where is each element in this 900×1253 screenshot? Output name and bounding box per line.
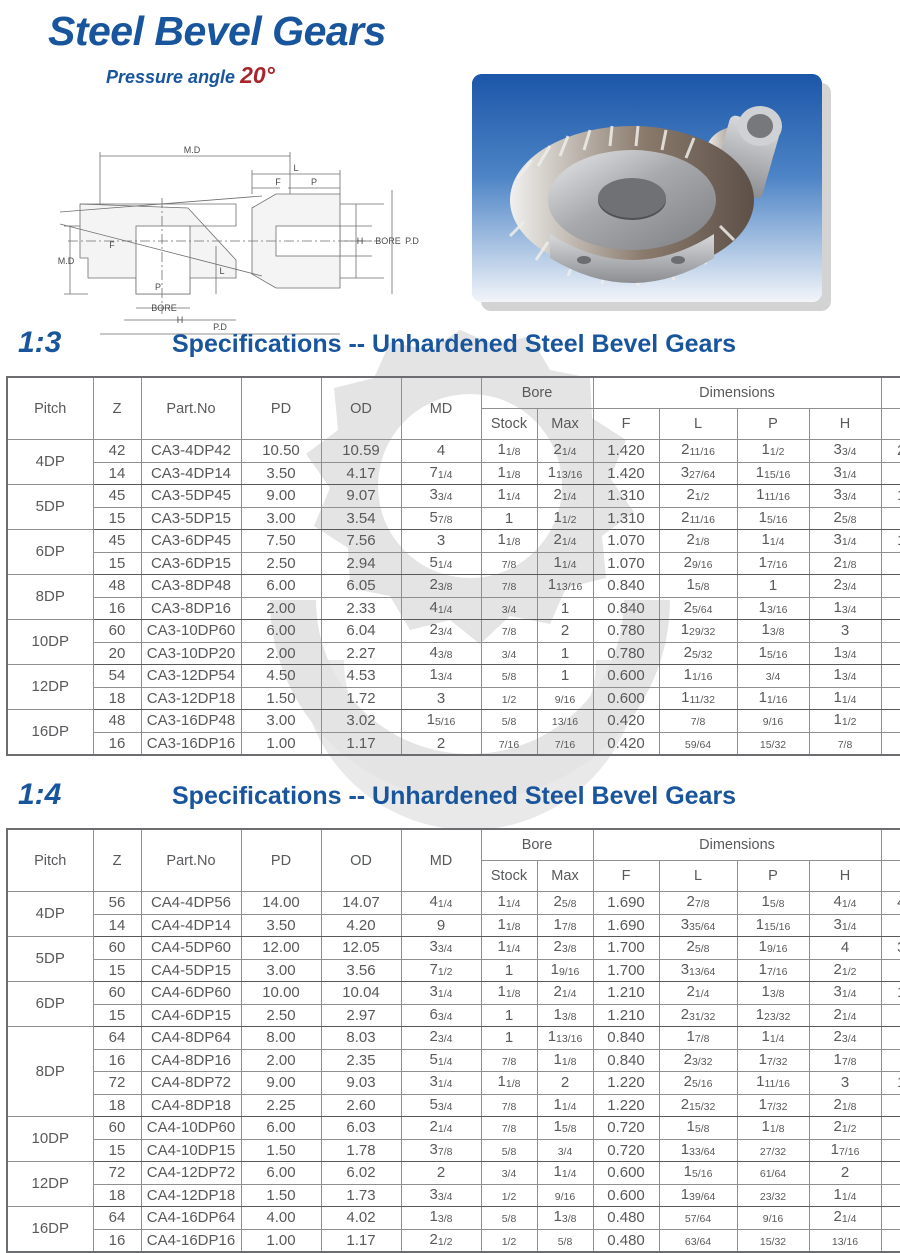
- cell-weight-lbs: 0.6: [881, 1139, 900, 1162]
- cell-part-no: CA4-6DP15: [141, 1004, 241, 1027]
- cell-od: 3.02: [321, 710, 401, 733]
- cell-bore-max: 15/8: [537, 1117, 593, 1140]
- cell-dim-p: 11/2: [737, 440, 809, 463]
- cell-z: 16: [93, 732, 141, 755]
- cell-weight-lbs: 1.2: [881, 597, 900, 620]
- cell-z: 72: [93, 1072, 141, 1095]
- cell-md: 63/4: [401, 1004, 481, 1027]
- cell-bore-max: 9/16: [537, 1184, 593, 1207]
- cell-dim-h: 21/4: [809, 1004, 881, 1027]
- cell-pd: 2.00: [241, 1049, 321, 1072]
- drawing-label-h-right: H: [357, 236, 364, 246]
- cell-md: 51/4: [401, 1049, 481, 1072]
- cell-dim-f: 0.600: [593, 1184, 659, 1207]
- cell-dim-f: 1.220: [593, 1072, 659, 1095]
- drawing-label-md: M.D: [184, 145, 201, 155]
- cell-part-no: CA3-10DP20: [141, 642, 241, 665]
- cell-dim-l: 63/64: [659, 1229, 737, 1252]
- col-group-bore: Bore: [481, 829, 593, 861]
- col-stock: Stock: [481, 409, 537, 440]
- cell-weight-lbs: 9.7: [881, 1027, 900, 1050]
- cell-dim-h: 17/16: [809, 1139, 881, 1162]
- table-row: 10DP60CA4-10DP606.006.0321/47/815/80.720…: [7, 1117, 900, 1140]
- cell-dim-p: 115/16: [737, 462, 809, 485]
- cell-dim-l: 57/64: [659, 1207, 737, 1230]
- subtitle-text: Pressure angle: [106, 67, 235, 87]
- col-max: Max: [537, 409, 593, 440]
- cell-z: 15: [93, 1004, 141, 1027]
- section-header-1: 1:3 Specifications -- Unhardened Steel B…: [0, 330, 900, 370]
- cell-dim-f: 0.420: [593, 710, 659, 733]
- cell-od: 3.54: [321, 507, 401, 530]
- table-header-1: Pitch Z Part.No PD OD MD Bore Dimensions…: [7, 377, 900, 440]
- cell-bore-stock: 7/8: [481, 1117, 537, 1140]
- cell-dim-l: 25/32: [659, 642, 737, 665]
- cell-od: 10.04: [321, 982, 401, 1005]
- page-header: Steel Bevel Gears Pressure angle 20°: [0, 0, 900, 330]
- table-row: 72CA4-8DP729.009.0331/411/821.22025/1611…: [7, 1072, 900, 1095]
- table-row: 10DP60CA3-10DP606.006.0423/47/820.780129…: [7, 620, 900, 643]
- cell-bore-stock: 1: [481, 1027, 537, 1050]
- cell-weight-lbs: 5.3: [881, 575, 900, 598]
- cell-dim-l: 211/16: [659, 440, 737, 463]
- cell-part-no: CA3-4DP42: [141, 440, 241, 463]
- cell-bore-max: 13/16: [537, 710, 593, 733]
- cell-dim-h: 21/2: [809, 959, 881, 982]
- col-lbs: Lbs: [881, 861, 900, 892]
- cell-pd: 9.00: [241, 1072, 321, 1095]
- cell-dim-l: 139/64: [659, 1184, 737, 1207]
- cell-part-no: CA3-16DP16: [141, 732, 241, 755]
- cell-dim-l: 59/64: [659, 732, 737, 755]
- cell-dim-l: 25/64: [659, 597, 737, 620]
- cell-weight-lbs: 3.3: [881, 1004, 900, 1027]
- cell-bore-stock: 11/4: [481, 485, 537, 508]
- cell-part-no: CA4-10DP15: [141, 1139, 241, 1162]
- cell-bore-stock: 7/16: [481, 732, 537, 755]
- cell-dim-f: 1.220: [593, 1094, 659, 1117]
- cell-pd: 8.00: [241, 1027, 321, 1050]
- cell-dim-p: 123/32: [737, 1004, 809, 1027]
- cell-bore-stock: 3/4: [481, 1162, 537, 1185]
- cell-part-no: CA3-6DP45: [141, 530, 241, 553]
- cell-part-no: CA3-10DP60: [141, 620, 241, 643]
- cell-bore-max: 25/8: [537, 892, 593, 915]
- cell-dim-f: 0.480: [593, 1229, 659, 1252]
- drawing-label-p-left: P: [155, 282, 161, 292]
- cell-od: 2.27: [321, 642, 401, 665]
- cell-pd: 1.00: [241, 1229, 321, 1252]
- cell-pitch: 10DP: [7, 620, 93, 665]
- cell-pd: 4.50: [241, 665, 321, 688]
- cell-md: 71/4: [401, 462, 481, 485]
- table-row: 16DP64CA4-16DP644.004.0213/85/813/80.480…: [7, 1207, 900, 1230]
- cell-bore-max: 11/4: [537, 552, 593, 575]
- cell-bore-max: 11/4: [537, 1094, 593, 1117]
- cell-od: 2.33: [321, 597, 401, 620]
- cell-dim-f: 1.210: [593, 982, 659, 1005]
- section-title-1: Specifications -- Unhardened Steel Bevel…: [172, 330, 736, 359]
- cell-dim-l: 29/16: [659, 552, 737, 575]
- table-row: 5DP60CA4-5DP6012.0012.0533/411/423/81.70…: [7, 937, 900, 960]
- cell-bore-max: 17/8: [537, 914, 593, 937]
- cell-dim-h: 21/4: [809, 1207, 881, 1230]
- cell-weight-lbs: 48.7: [881, 892, 900, 915]
- cell-z: 16: [93, 1229, 141, 1252]
- cell-dim-p: 15/8: [737, 892, 809, 915]
- table-row: 15CA4-10DP151.501.7837/85/83/40.720133/6…: [7, 1139, 900, 1162]
- table-row: 12DP72CA4-12DP726.006.0223/411/40.60015/…: [7, 1162, 900, 1185]
- table-row: 5DP45CA3-5DP459.009.0733/411/421/41.3102…: [7, 485, 900, 508]
- cell-bore-max: 19/16: [537, 959, 593, 982]
- cell-md: 43/8: [401, 642, 481, 665]
- cell-md: 37/8: [401, 1139, 481, 1162]
- cell-dim-f: 0.780: [593, 620, 659, 643]
- cell-dim-p: 27/32: [737, 1139, 809, 1162]
- cell-dim-h: 31/4: [809, 982, 881, 1005]
- drawing-label-md-left: M.D: [58, 256, 75, 266]
- cell-dim-f: 0.600: [593, 665, 659, 688]
- cell-dim-p: 9/16: [737, 710, 809, 733]
- cell-md: 3: [401, 530, 481, 553]
- cell-pd: 3.00: [241, 710, 321, 733]
- cell-dim-f: 0.840: [593, 1027, 659, 1050]
- cell-pd: 7.50: [241, 530, 321, 553]
- cell-dim-f: 1.310: [593, 507, 659, 530]
- cell-z: 54: [93, 665, 141, 688]
- cell-bore-stock: 5/8: [481, 710, 537, 733]
- cell-dim-h: 23/4: [809, 575, 881, 598]
- drawing-label-bore-left: BORE: [151, 303, 177, 313]
- cell-dim-l: 215/32: [659, 1094, 737, 1117]
- cell-dim-l: 25/16: [659, 1072, 737, 1095]
- cell-part-no: CA3-12DP54: [141, 665, 241, 688]
- cell-dim-h: 13/4: [809, 597, 881, 620]
- cell-bore-stock: 11/8: [481, 440, 537, 463]
- cell-dim-p: 61/64: [737, 1162, 809, 1185]
- cell-bore-max: 21/4: [537, 530, 593, 553]
- cell-od: 1.73: [321, 1184, 401, 1207]
- cell-bore-stock: 11/8: [481, 1072, 537, 1095]
- page-subtitle: Pressure angle 20°: [106, 62, 275, 89]
- cell-dim-f: 0.720: [593, 1117, 659, 1140]
- table-row: 15CA3-5DP153.003.5457/8111/21.310211/161…: [7, 507, 900, 530]
- cell-part-no: CA4-4DP56: [141, 892, 241, 915]
- cell-part-no: CA4-5DP60: [141, 937, 241, 960]
- cell-md: 57/8: [401, 507, 481, 530]
- cell-dim-h: 33/4: [809, 485, 881, 508]
- cell-dim-h: 21/2: [809, 1117, 881, 1140]
- col-part: Part.No: [141, 829, 241, 892]
- drawing-label-l-left: L: [219, 266, 224, 276]
- spec-table-1: Pitch Z Part.No PD OD MD Bore Dimensions…: [6, 376, 900, 756]
- cell-pd: 3.00: [241, 507, 321, 530]
- cell-dim-p: 15/16: [737, 642, 809, 665]
- table-row: 18CA3-12DP181.501.7231/29/160.600111/321…: [7, 687, 900, 710]
- cell-bore-max: 5/8: [537, 1229, 593, 1252]
- cell-od: 3.56: [321, 959, 401, 982]
- ratio-label-1: 1:3: [18, 326, 61, 360]
- cell-z: 64: [93, 1027, 141, 1050]
- table-row: 16CA4-16DP161.001.1721/21/25/80.48063/64…: [7, 1229, 900, 1252]
- cell-dim-l: 11/16: [659, 665, 737, 688]
- cell-dim-h: 17/8: [809, 1049, 881, 1072]
- cell-bore-max: 1: [537, 642, 593, 665]
- cell-bore-stock: 11/8: [481, 914, 537, 937]
- table-row: 16CA4-8DP162.002.3551/47/811/80.84023/32…: [7, 1049, 900, 1072]
- cell-dim-f: 0.420: [593, 732, 659, 755]
- cell-dim-h: 11/4: [809, 687, 881, 710]
- cell-md: 15/16: [401, 710, 481, 733]
- cell-z: 15: [93, 1139, 141, 1162]
- cell-z: 72: [93, 1162, 141, 1185]
- cell-dim-l: 15/8: [659, 1117, 737, 1140]
- cell-bore-stock: 7/8: [481, 1094, 537, 1117]
- cell-od: 4.17: [321, 462, 401, 485]
- cell-dim-f: 0.840: [593, 575, 659, 598]
- cell-dim-h: 3: [809, 620, 881, 643]
- cell-dim-l: 111/32: [659, 687, 737, 710]
- cell-od: 2.94: [321, 552, 401, 575]
- cell-z: 18: [93, 687, 141, 710]
- cell-z: 16: [93, 597, 141, 620]
- cell-z: 15: [93, 552, 141, 575]
- col-od: OD: [321, 377, 401, 440]
- cell-pitch: 12DP: [7, 1162, 93, 1207]
- cell-dim-h: 4: [809, 937, 881, 960]
- pressure-angle-value: 20°: [240, 62, 275, 88]
- col-group-dimensions: Dimensions: [593, 377, 881, 409]
- cell-part-no: CA4-16DP16: [141, 1229, 241, 1252]
- cell-md: 33/4: [401, 1184, 481, 1207]
- cell-weight-lbs: 2.3: [881, 552, 900, 575]
- cell-dim-p: 15/32: [737, 732, 809, 755]
- cell-dim-l: 313/64: [659, 959, 737, 982]
- cell-md: 21/4: [401, 1117, 481, 1140]
- cell-bore-max: 13/8: [537, 1004, 593, 1027]
- table-row: 15CA4-6DP152.502.9763/4113/81.210231/321…: [7, 1004, 900, 1027]
- cell-dim-p: 115/16: [737, 914, 809, 937]
- ratio-label-2: 1:4: [18, 778, 61, 812]
- cell-weight-lbs: 0.4: [881, 1184, 900, 1207]
- cell-z: 15: [93, 959, 141, 982]
- cell-md: 41/4: [401, 892, 481, 915]
- cell-dim-l: 7/8: [659, 710, 737, 733]
- cell-weight-lbs: 1.6: [881, 1207, 900, 1230]
- cell-md: 13/8: [401, 1207, 481, 1230]
- cell-od: 6.03: [321, 1117, 401, 1140]
- cell-od: 9.07: [321, 485, 401, 508]
- cell-dim-p: 13/8: [737, 620, 809, 643]
- cell-pd: 3.50: [241, 462, 321, 485]
- table-row: 6DP60CA4-6DP6010.0010.0431/411/821/41.21…: [7, 982, 900, 1005]
- cell-bore-max: 21/4: [537, 440, 593, 463]
- cell-part-no: CA4-5DP15: [141, 959, 241, 982]
- cell-pd: 2.50: [241, 1004, 321, 1027]
- cell-od: 4.02: [321, 1207, 401, 1230]
- cell-part-no: CA4-10DP60: [141, 1117, 241, 1140]
- cell-md: 4: [401, 440, 481, 463]
- cell-weight-lbs: 3.1: [881, 1162, 900, 1185]
- table-row: 12DP54CA3-12DP544.504.5313/45/810.60011/…: [7, 665, 900, 688]
- cell-dim-f: 1.070: [593, 530, 659, 553]
- cell-pd: 6.00: [241, 1117, 321, 1140]
- cell-od: 1.17: [321, 1229, 401, 1252]
- table-header-2: Pitch Z Part.No PD OD MD Bore Dimensions…: [7, 829, 900, 892]
- cell-dim-l: 231/32: [659, 1004, 737, 1027]
- cell-dim-f: 0.480: [593, 1207, 659, 1230]
- cell-weight-lbs: 10.6: [881, 530, 900, 553]
- cell-weight-lbs: 17.6: [881, 982, 900, 1005]
- cell-z: 60: [93, 937, 141, 960]
- cell-z: 16: [93, 1049, 141, 1072]
- cell-weight-lbs: 7.6: [881, 914, 900, 937]
- drawing-label-p: P: [311, 177, 317, 187]
- cell-md: 31/4: [401, 982, 481, 1005]
- cell-z: 14: [93, 462, 141, 485]
- table-row: 16CA3-16DP161.001.1727/167/160.42059/641…: [7, 732, 900, 755]
- cell-dim-l: 335/64: [659, 914, 737, 937]
- table-row: 18CA4-8DP182.252.6053/47/811/41.220215/3…: [7, 1094, 900, 1117]
- col-part: Part.No: [141, 377, 241, 440]
- cell-pitch: 16DP: [7, 710, 93, 756]
- cell-dim-h: 7/8: [809, 732, 881, 755]
- col-group-bore: Bore: [481, 377, 593, 409]
- drawing-label-l: L: [293, 163, 298, 173]
- cell-dim-f: 1.700: [593, 959, 659, 982]
- col-pd: PD: [241, 377, 321, 440]
- cell-bore-max: 113/16: [537, 462, 593, 485]
- cell-pd: 10.50: [241, 440, 321, 463]
- col-pitch: Pitch: [7, 377, 93, 440]
- table-row: 16DP48CA3-16DP483.003.0215/165/813/160.4…: [7, 710, 900, 733]
- col-group-wt: wt: [881, 829, 900, 861]
- col-l: L: [659, 409, 737, 440]
- cell-bore-max: 1: [537, 597, 593, 620]
- cell-pitch: 8DP: [7, 1027, 93, 1117]
- cell-od: 6.05: [321, 575, 401, 598]
- cell-z: 48: [93, 575, 141, 598]
- cell-pd: 1.00: [241, 732, 321, 755]
- cell-bore-max: 23/8: [537, 937, 593, 960]
- col-f: F: [593, 861, 659, 892]
- cell-od: 12.05: [321, 937, 401, 960]
- cell-weight-lbs: 1.7: [881, 665, 900, 688]
- cell-bore-max: 3/4: [537, 1139, 593, 1162]
- cell-bore-stock: 7/8: [481, 1049, 537, 1072]
- cell-dim-p: 111/16: [737, 485, 809, 508]
- cell-dim-p: 23/32: [737, 1184, 809, 1207]
- cell-z: 20: [93, 642, 141, 665]
- cell-od: 1.17: [321, 732, 401, 755]
- cell-md: 51/4: [401, 552, 481, 575]
- cell-bore-stock: 3/4: [481, 597, 537, 620]
- cell-part-no: CA3-12DP18: [141, 687, 241, 710]
- cell-dim-h: 23/4: [809, 1027, 881, 1050]
- cell-dim-h: 31/4: [809, 462, 881, 485]
- cell-z: 56: [93, 892, 141, 915]
- drawing-label-f-left: F: [109, 240, 115, 250]
- cell-pd: 2.00: [241, 642, 321, 665]
- cell-pitch: 6DP: [7, 530, 93, 575]
- cell-dim-f: 1.210: [593, 1004, 659, 1027]
- cell-md: 23/4: [401, 620, 481, 643]
- cell-od: 10.59: [321, 440, 401, 463]
- cell-bore-stock: 1/2: [481, 1184, 537, 1207]
- cell-dim-h: 2: [809, 1162, 881, 1185]
- table-row: 20CA3-10DP202.002.2743/83/410.78025/3215…: [7, 642, 900, 665]
- cell-bore-stock: 1: [481, 959, 537, 982]
- col-pitch: Pitch: [7, 829, 93, 892]
- cell-dim-l: 15/16: [659, 1162, 737, 1185]
- cell-weight-lbs: 0.8: [881, 710, 900, 733]
- col-lbs: Lbs: [881, 409, 900, 440]
- cell-part-no: CA3-5DP15: [141, 507, 241, 530]
- cell-dim-l: 211/16: [659, 507, 737, 530]
- section-header-2: 1:4 Specifications -- Unhardened Steel B…: [0, 782, 900, 822]
- cell-weight-lbs: 0.1: [881, 1229, 900, 1252]
- cell-weight-lbs: 31.2: [881, 937, 900, 960]
- cell-pitch: 10DP: [7, 1117, 93, 1162]
- cell-dim-p: 15/32: [737, 1229, 809, 1252]
- col-p: P: [737, 861, 809, 892]
- cell-od: 14.07: [321, 892, 401, 915]
- cell-bore-stock: 3/4: [481, 642, 537, 665]
- cell-pitch: 12DP: [7, 665, 93, 710]
- cell-md: 21/2: [401, 1229, 481, 1252]
- cell-dim-h: 25/8: [809, 507, 881, 530]
- cell-dim-p: 13/16: [737, 597, 809, 620]
- cell-md: 2: [401, 732, 481, 755]
- cell-pd: 12.00: [241, 937, 321, 960]
- cell-od: 4.53: [321, 665, 401, 688]
- cell-dim-h: 33/4: [809, 440, 881, 463]
- table-body-1: 4DP42CA3-4DP4210.5010.59411/821/41.42021…: [7, 440, 900, 756]
- cell-md: 33/4: [401, 937, 481, 960]
- cell-dim-f: 0.780: [593, 642, 659, 665]
- cell-weight-lbs: 4.6: [881, 1117, 900, 1140]
- cell-pd: 10.00: [241, 982, 321, 1005]
- cell-dim-p: 11/8: [737, 1117, 809, 1140]
- table-row: 4DP56CA4-4DP5614.0014.0741/411/425/81.69…: [7, 892, 900, 915]
- cell-bore-stock: 11/8: [481, 462, 537, 485]
- cell-bore-stock: 7/8: [481, 575, 537, 598]
- cell-part-no: CA4-4DP14: [141, 914, 241, 937]
- cell-bore-stock: 11/4: [481, 892, 537, 915]
- cell-dim-f: 1.310: [593, 485, 659, 508]
- col-z: Z: [93, 829, 141, 892]
- cell-part-no: CA4-6DP60: [141, 982, 241, 1005]
- cell-bore-stock: 1/2: [481, 687, 537, 710]
- cell-bore-stock: 7/8: [481, 620, 537, 643]
- cell-part-no: CA4-12DP18: [141, 1184, 241, 1207]
- cell-dim-l: 21/2: [659, 485, 737, 508]
- col-md: MD: [401, 829, 481, 892]
- gear-dimension-drawing: M.D L F P BORE H P.D M.D BORE H P.D F P …: [40, 108, 440, 338]
- cell-part-no: CA3-8DP16: [141, 597, 241, 620]
- drawing-label-bore: BORE: [375, 236, 401, 246]
- cell-part-no: CA3-8DP48: [141, 575, 241, 598]
- table-row: 6DP45CA3-6DP457.507.56311/821/41.07021/8…: [7, 530, 900, 553]
- cell-dim-h: 21/8: [809, 1094, 881, 1117]
- cell-dim-l: 25/8: [659, 937, 737, 960]
- cell-weight-lbs: 0.1: [881, 732, 900, 755]
- cell-z: 42: [93, 440, 141, 463]
- cell-pitch: 6DP: [7, 982, 93, 1027]
- cell-z: 64: [93, 1207, 141, 1230]
- cell-pd: 1.50: [241, 1184, 321, 1207]
- cell-part-no: CA4-16DP64: [141, 1207, 241, 1230]
